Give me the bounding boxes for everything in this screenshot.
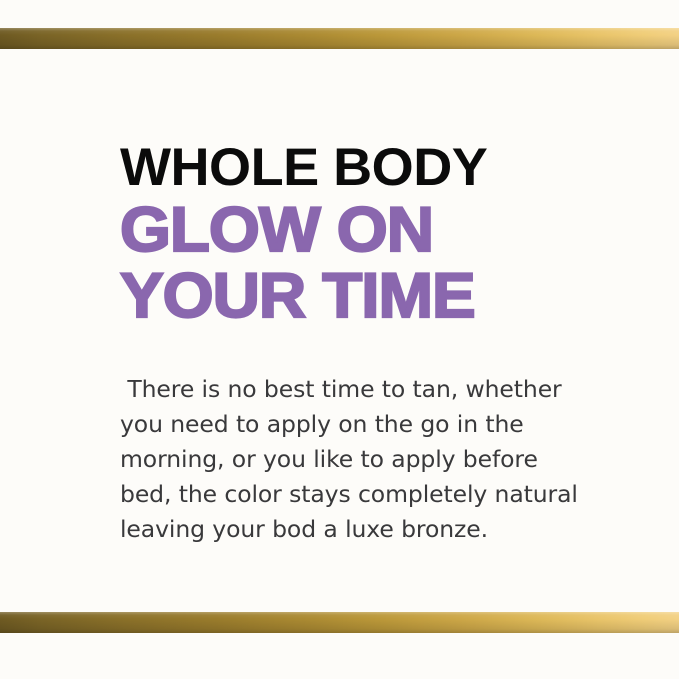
headline-line-1: WHOLE BODY <box>120 140 619 196</box>
gold-gradient-rule-bottom <box>0 612 679 633</box>
gold-gradient-rule-top <box>0 28 679 49</box>
marketing-poster: WHOLE BODY GLOW ON YOUR TIME There is no… <box>0 0 679 679</box>
body-line-1: There is no best time to tan, whether <box>120 372 590 407</box>
body-line-2: you need to apply on the go in the <box>120 407 590 442</box>
headline-line-2: GLOW ON <box>120 200 629 260</box>
body-line-3: morning, or you like to apply before <box>120 442 590 477</box>
headline: WHOLE BODY GLOW ON YOUR TIME <box>120 140 609 326</box>
content-block: WHOLE BODY GLOW ON YOUR TIME There is no… <box>120 140 609 547</box>
headline-line-3: YOUR TIME <box>120 266 629 326</box>
body-paragraph: There is no best time to tan, whether yo… <box>120 372 590 547</box>
body-line-4: bed, the color stays completely natural <box>120 477 590 512</box>
body-line-5: leaving your bod a luxe bronze. <box>120 512 590 547</box>
